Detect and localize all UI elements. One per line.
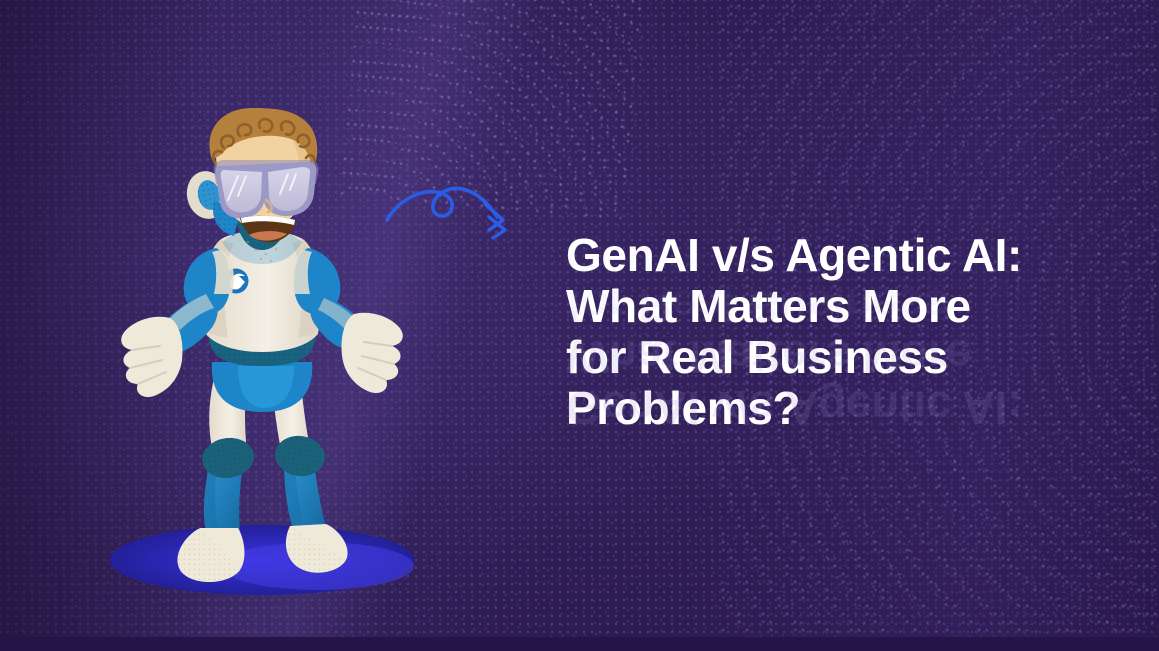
bottom-band	[0, 637, 1159, 651]
right-open-hand	[342, 313, 403, 393]
left-open-hand	[121, 317, 182, 397]
robot-mascot-illustration	[88, 108, 428, 598]
page-title: GenAI v/s Agentic AI: What Matters More …	[566, 230, 1126, 434]
poster-canvas: GenAI v/s Agentic AI: What Matters More …	[0, 0, 1159, 651]
